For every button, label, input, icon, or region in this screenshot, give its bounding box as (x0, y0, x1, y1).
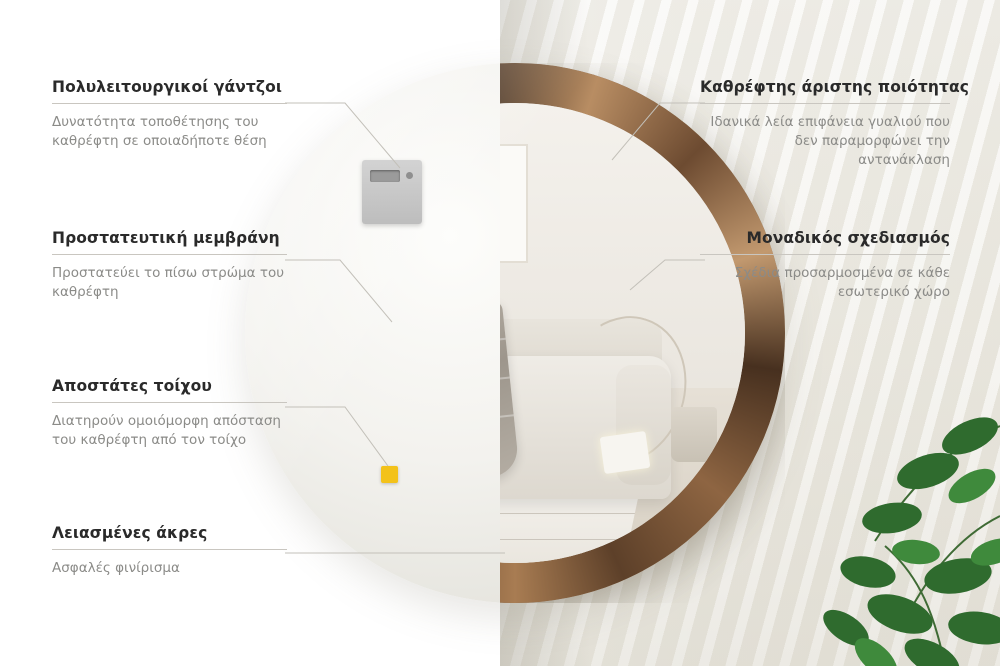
callout-polished-edges-description: Ασφαλές φινίρισμα (52, 559, 287, 578)
callout-unique-design-description: Σχέδια προσαρμοσμένα σε κάθε εσωτερικό χ… (700, 264, 950, 302)
callout-top-quality-mirror-description: Ιδανικά λεία επιφάνεια γυαλιού που δεν π… (700, 113, 950, 170)
callout-polished-edges: Λειασμένες άκρες Ασφαλές φινίρισμα (52, 524, 287, 578)
callout-wall-spacers-description: Διατηρούν ομοιόμορφη απόσταση του καθρέφ… (52, 412, 287, 450)
callout-polished-edges-rule (52, 549, 287, 550)
callout-wall-spacers-rule (52, 402, 287, 403)
hook-screw (406, 172, 413, 179)
wall-art-frame (500, 144, 528, 263)
foliage-decoration (670, 366, 1000, 666)
infographic-canvas: Πολυλειτουργικοί γάντζοι Δυνατότητα τοπο… (0, 0, 1000, 666)
callout-hooks-description: Δυνατότητα τοποθέτησης του καθρέφτη σε ο… (52, 113, 287, 151)
callout-hooks: Πολυλειτουργικοί γάντζοι Δυνατότητα τοπο… (52, 78, 287, 151)
callout-wall-spacers: Αποστάτες τοίχου Διατηρούν ομοιόμορφη απ… (52, 377, 287, 450)
callout-membrane-title: Προστατευτική μεμβράνη (52, 229, 287, 247)
callout-unique-design-title: Μοναδικός σχεδιασμός (700, 229, 950, 247)
callout-membrane-description: Προστατεύει το πίσω στρώμα του καθρέφτη (52, 264, 287, 302)
callout-unique-design-rule (700, 254, 950, 255)
callout-hooks-title: Πολυλειτουργικοί γάντζοι (52, 78, 287, 96)
callout-top-quality-mirror-rule (700, 103, 950, 104)
callout-membrane-rule (52, 254, 287, 255)
callout-polished-edges-title: Λειασμένες άκρες (52, 524, 287, 542)
callout-hooks-rule (52, 103, 287, 104)
callout-top-quality-mirror-title: Καθρέφτης άριστης ποιότητας (700, 78, 950, 96)
callout-top-quality-mirror: Καθρέφτης άριστης ποιότητας Ιδανικά λεία… (700, 78, 950, 170)
hook-slot (370, 170, 400, 182)
wall-spacer (381, 466, 398, 483)
callout-membrane: Προστατευτική μεμβράνη Προστατεύει το πί… (52, 229, 287, 302)
callout-wall-spacers-title: Αποστάτες τοίχου (52, 377, 287, 395)
hanging-hook (362, 160, 422, 224)
lamp-shade (600, 431, 651, 474)
callout-unique-design: Μοναδικός σχεδιασμός Σχέδια προσαρμοσμέν… (700, 229, 950, 302)
